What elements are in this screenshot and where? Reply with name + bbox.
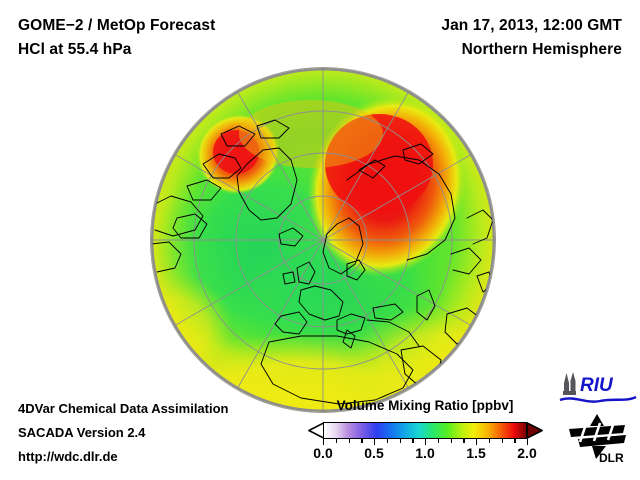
footer-url[interactable]: http://wdc.dlr.de bbox=[18, 449, 118, 464]
figure-canvas: GOME−2 / MetOp Forecast HCl at 55.4 hPa … bbox=[0, 0, 640, 480]
colorbar-tick-label: 1.0 bbox=[415, 445, 434, 461]
colorbar-tick-minor bbox=[387, 439, 388, 443]
figure-region: Northern Hemisphere bbox=[462, 41, 622, 59]
footer-method: 4DVar Chemical Data Assimilation bbox=[18, 401, 229, 416]
riu-logo: RIU bbox=[558, 371, 638, 405]
colorbar-tick-label: 2.0 bbox=[517, 445, 536, 461]
figure-subtitle: HCl at 55.4 hPa bbox=[18, 41, 132, 59]
globe-field-svg bbox=[151, 68, 495, 412]
colorbar-tick-label: 1.5 bbox=[466, 445, 485, 461]
figure-timestamp: Jan 17, 2013, 12:00 GMT bbox=[441, 17, 622, 35]
colorbar-tick-minor bbox=[438, 439, 439, 443]
colorbar-tick-labels: 0.00.51.01.52.0 bbox=[305, 445, 545, 465]
colorbar-tick-minor bbox=[412, 439, 413, 443]
colorbar-over-arrow bbox=[526, 422, 543, 439]
globe-map bbox=[151, 68, 495, 412]
colorbar-tick-minor bbox=[336, 439, 337, 443]
colorbar-gradient-box bbox=[323, 422, 527, 439]
globe-disc bbox=[151, 68, 495, 412]
dlr-logo: DLR bbox=[566, 412, 634, 464]
colorbar-title: Volume Mixing Ratio [ppbv] bbox=[305, 398, 545, 413]
colorbar-gradient bbox=[324, 423, 526, 438]
colorbar-tick-minor bbox=[400, 439, 401, 443]
colorbar-tick-minor bbox=[502, 439, 503, 443]
colorbar-tick-label: 0.5 bbox=[364, 445, 383, 461]
colorbar-tick-label: 0.0 bbox=[313, 445, 332, 461]
colorbar-tick-minor bbox=[451, 439, 452, 443]
graticule bbox=[151, 68, 495, 412]
figure-title: GOME−2 / MetOp Forecast bbox=[18, 17, 215, 35]
footer-version: SACADA Version 2.4 bbox=[18, 425, 145, 440]
colorbar-tick-minor bbox=[463, 439, 464, 443]
riu-wave-icon bbox=[560, 397, 636, 402]
colorbar: Volume Mixing Ratio [ppbv] 0.00.51.01.52… bbox=[305, 398, 545, 470]
colorbar-tick-minor bbox=[489, 439, 490, 443]
colorbar-tick-minor bbox=[514, 439, 515, 443]
colorbar-tick-minor bbox=[361, 439, 362, 443]
colorbar-tick-minor bbox=[349, 439, 350, 443]
riu-wordmark: RIU bbox=[580, 375, 614, 396]
riu-spires-icon bbox=[563, 372, 576, 395]
dlr-wordmark: DLR bbox=[599, 451, 624, 464]
